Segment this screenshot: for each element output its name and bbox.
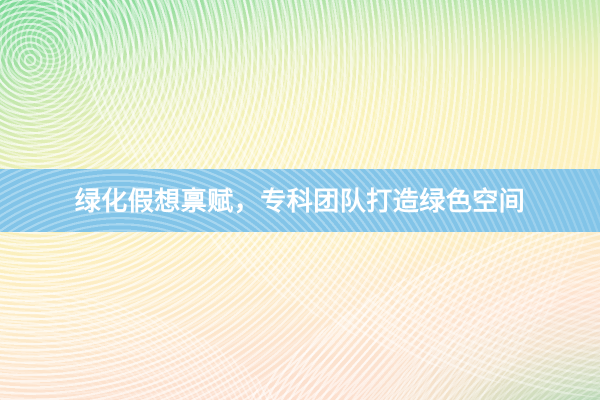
promotional-banner: 绿化假想禀赋，专科团队打造绿色空间 xyxy=(0,0,600,400)
headline-band: 绿化假想禀赋，专科团队打造绿色空间 xyxy=(0,169,600,232)
banner-headline: 绿化假想禀赋，专科团队打造绿色空间 xyxy=(75,188,526,214)
